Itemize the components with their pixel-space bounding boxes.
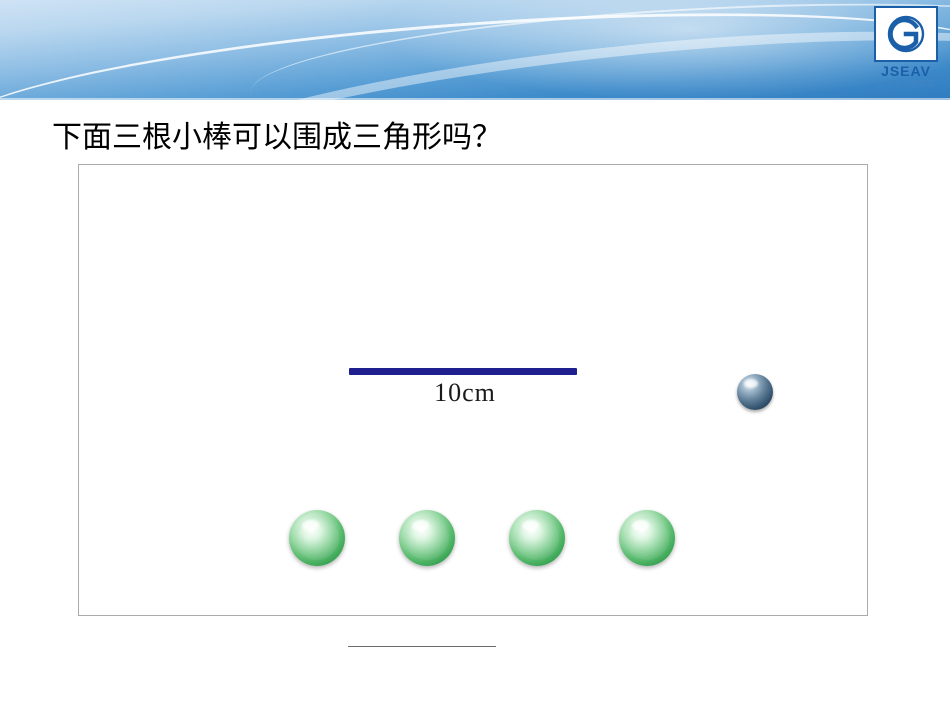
logo-subtext: 江苏电化教育馆 [870, 78, 942, 89]
page-title: 下面三根小棒可以围成三角形吗？ [52, 112, 502, 156]
green-bead-row [79, 165, 867, 615]
banner-bottom-divider [0, 98, 950, 100]
logo: JSEAV 江苏电化教育馆 [870, 6, 942, 84]
banner-curve-3 [247, 0, 950, 100]
header-banner: JSEAV 江苏电化教育馆 [0, 0, 950, 100]
green-bead-3[interactable] [509, 510, 565, 566]
logo-text: JSEAV [870, 63, 942, 79]
green-bead-4[interactable] [619, 510, 675, 566]
content-board: 10cm [78, 164, 868, 616]
green-bead-2[interactable] [399, 510, 455, 566]
g-letter-icon [883, 13, 929, 55]
green-bead-1[interactable] [289, 510, 345, 566]
logo-mark-icon [874, 6, 938, 62]
answer-blank-line [348, 646, 496, 647]
